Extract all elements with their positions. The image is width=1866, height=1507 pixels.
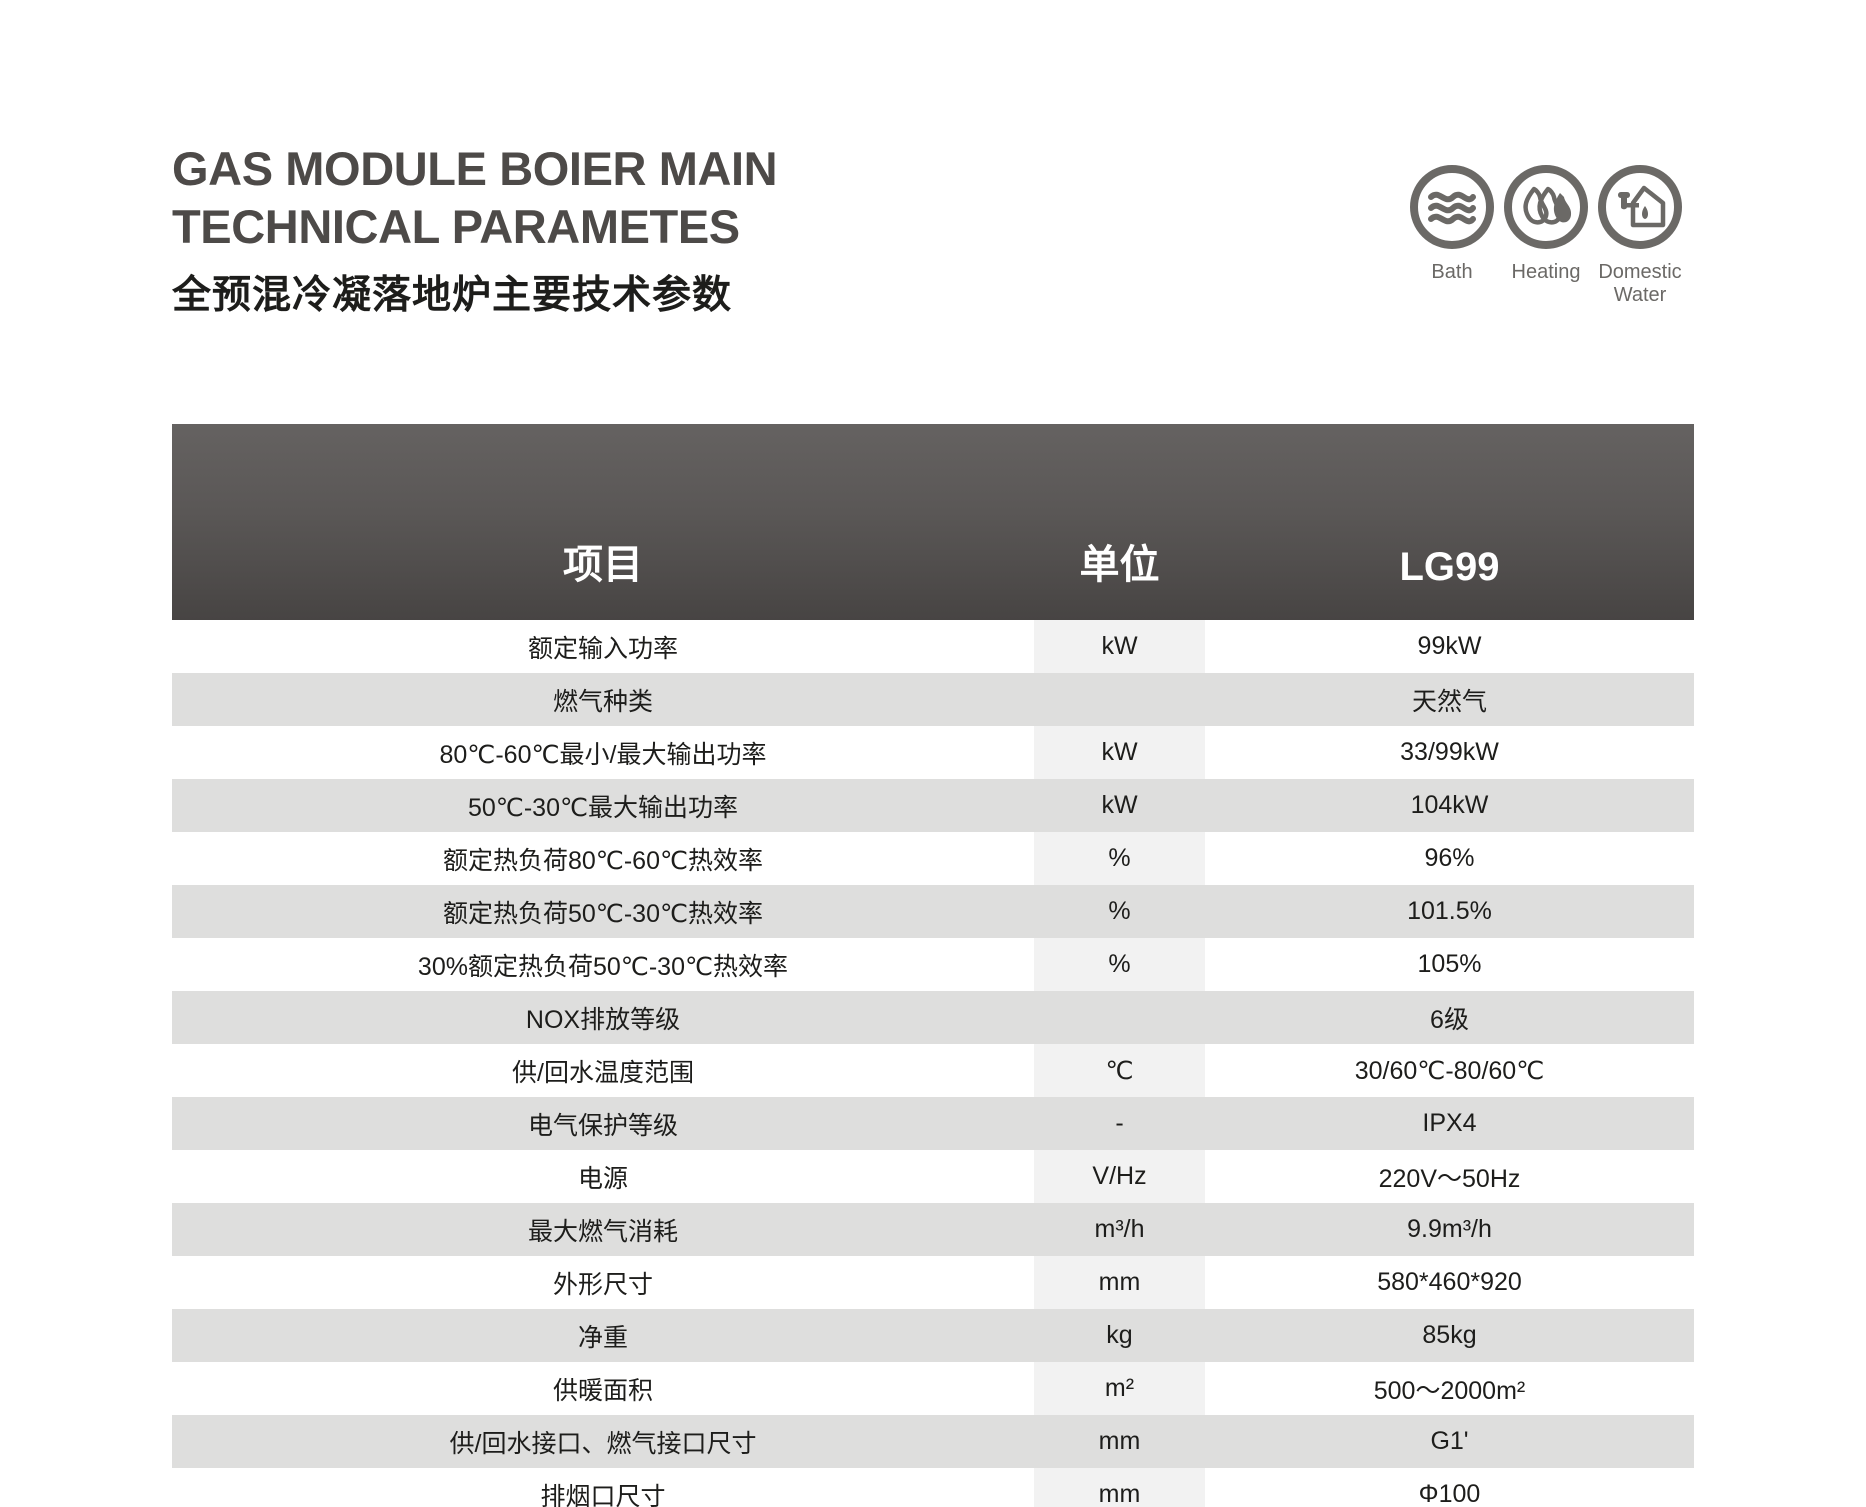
page-header: GAS MODULE BOIER MAIN TECHNICAL PARAMETE… [172, 140, 1694, 370]
feature-domestic-water: Domestic Water [1586, 165, 1694, 307]
cell-item: 额定热负荷50℃-30℃热效率 [172, 885, 1034, 938]
table-row: 净重kg85kg [172, 1309, 1694, 1362]
technical-parameters-table: 项目 单位 LG99 额定输入功率kW99kW燃气种类天然气80℃-60℃最小/… [172, 424, 1694, 1507]
table-body: 额定输入功率kW99kW燃气种类天然气80℃-60℃最小/最大输出功率kW33/… [172, 620, 1694, 1507]
cell-unit: kW [1034, 726, 1205, 779]
cell-unit: mm [1034, 1415, 1205, 1468]
feature-icon-group: Bath Heating [1398, 165, 1694, 307]
table-row: NOX排放等级6级 [172, 991, 1694, 1044]
cell-value: 85kg [1205, 1309, 1694, 1362]
table-row: 电源V/Hz220V～50Hz [172, 1150, 1694, 1203]
cell-value: 104kW [1205, 779, 1694, 832]
feature-heating: Heating [1492, 165, 1600, 284]
cell-unit [1034, 991, 1205, 1044]
cell-item: 30%额定热负荷50℃-30℃热效率 [172, 938, 1034, 991]
cell-value: 220V～50Hz [1205, 1150, 1694, 1203]
cell-item: 外形尺寸 [172, 1256, 1034, 1309]
cell-item: 供/回水温度范围 [172, 1044, 1034, 1097]
cell-value: 580*460*920 [1205, 1256, 1694, 1309]
cell-unit [1034, 673, 1205, 726]
cell-value: 30/60℃-80/60℃ [1205, 1044, 1694, 1097]
cell-item: 排烟口尺寸 [172, 1468, 1034, 1507]
cell-item: 燃气种类 [172, 673, 1034, 726]
table-header-row: 项目 单位 LG99 [172, 424, 1694, 620]
table-row: 80℃-60℃最小/最大输出功率kW33/99kW [172, 726, 1694, 779]
table-row: 电气保护等级-IPX4 [172, 1097, 1694, 1150]
page-title-line2: TECHNICAL PARAMETES [172, 198, 1122, 256]
page-subtitle: 全预混冷凝落地炉主要技术参数 [172, 272, 1122, 320]
table-row: 供/回水温度范围℃30/60℃-80/60℃ [172, 1044, 1694, 1097]
cell-unit: - [1034, 1097, 1205, 1150]
cell-unit: ℃ [1034, 1044, 1205, 1097]
cell-item: 电气保护等级 [172, 1097, 1034, 1150]
feature-bath: Bath [1398, 165, 1506, 284]
cell-unit: V/Hz [1034, 1150, 1205, 1203]
cell-unit: % [1034, 885, 1205, 938]
cell-item: 80℃-60℃最小/最大输出功率 [172, 726, 1034, 779]
table-row: 供/回水接口、燃气接口尺寸mmG1' [172, 1415, 1694, 1468]
page-title-line1: GAS MODULE BOIER MAIN [172, 140, 1122, 198]
table-row: 50℃-30℃最大输出功率kW104kW [172, 779, 1694, 832]
table-row: 额定热负荷50℃-30℃热效率%101.5% [172, 885, 1694, 938]
cell-value: 500～2000m² [1205, 1362, 1694, 1415]
column-header-model: LG99 [1205, 424, 1694, 620]
cell-unit: mm [1034, 1256, 1205, 1309]
cell-unit: kW [1034, 620, 1205, 673]
cell-item: NOX排放等级 [172, 991, 1034, 1044]
cell-value: Φ100 [1205, 1468, 1694, 1507]
cell-unit: % [1034, 938, 1205, 991]
table-row: 燃气种类天然气 [172, 673, 1694, 726]
cell-unit: kg [1034, 1309, 1205, 1362]
cell-unit: m² [1034, 1362, 1205, 1415]
cell-unit: kW [1034, 779, 1205, 832]
cell-item: 额定输入功率 [172, 620, 1034, 673]
spec-sheet-page: GAS MODULE BOIER MAIN TECHNICAL PARAMETE… [0, 0, 1866, 1507]
cell-item: 电源 [172, 1150, 1034, 1203]
water-waves-icon [1410, 165, 1494, 249]
table-row: 30%额定热负荷50℃-30℃热效率%105% [172, 938, 1694, 991]
house-faucet-icon [1598, 165, 1682, 249]
column-header-unit: 单位 [1034, 424, 1205, 620]
table-row: 额定热负荷80℃-60℃热效率%96% [172, 832, 1694, 885]
cell-item: 供/回水接口、燃气接口尺寸 [172, 1415, 1034, 1468]
cell-value: 105% [1205, 938, 1694, 991]
cell-value: 101.5% [1205, 885, 1694, 938]
cell-unit: mm [1034, 1468, 1205, 1507]
cell-value: 9.9m³/h [1205, 1203, 1694, 1256]
cell-value: IPX4 [1205, 1097, 1694, 1150]
cell-unit: m³/h [1034, 1203, 1205, 1256]
column-header-item: 项目 [172, 424, 1034, 620]
cell-item: 供暖面积 [172, 1362, 1034, 1415]
cell-value: 33/99kW [1205, 726, 1694, 779]
table-row: 外形尺寸mm580*460*920 [172, 1256, 1694, 1309]
table-row: 额定输入功率kW99kW [172, 620, 1694, 673]
table-row: 最大燃气消耗m³/h9.9m³/h [172, 1203, 1694, 1256]
flame-heating-icon [1504, 165, 1588, 249]
cell-unit: % [1034, 832, 1205, 885]
table-row: 排烟口尺寸mmΦ100 [172, 1468, 1694, 1507]
cell-item: 最大燃气消耗 [172, 1203, 1034, 1256]
feature-label-domestic-water: Domestic Water [1598, 261, 1681, 307]
table-header: 项目 单位 LG99 [172, 424, 1694, 620]
table-row: 供暖面积m²500～2000m² [172, 1362, 1694, 1415]
cell-value: G1' [1205, 1415, 1694, 1468]
cell-item: 净重 [172, 1309, 1034, 1362]
cell-value: 96% [1205, 832, 1694, 885]
feature-label-bath: Bath [1431, 261, 1472, 284]
cell-value: 99kW [1205, 620, 1694, 673]
cell-item: 额定热负荷80℃-60℃热效率 [172, 832, 1034, 885]
cell-value: 6级 [1205, 991, 1694, 1044]
title-block: GAS MODULE BOIER MAIN TECHNICAL PARAMETE… [172, 140, 1122, 320]
cell-item: 50℃-30℃最大输出功率 [172, 779, 1034, 832]
feature-label-heating: Heating [1512, 261, 1581, 284]
cell-value: 天然气 [1205, 673, 1694, 726]
